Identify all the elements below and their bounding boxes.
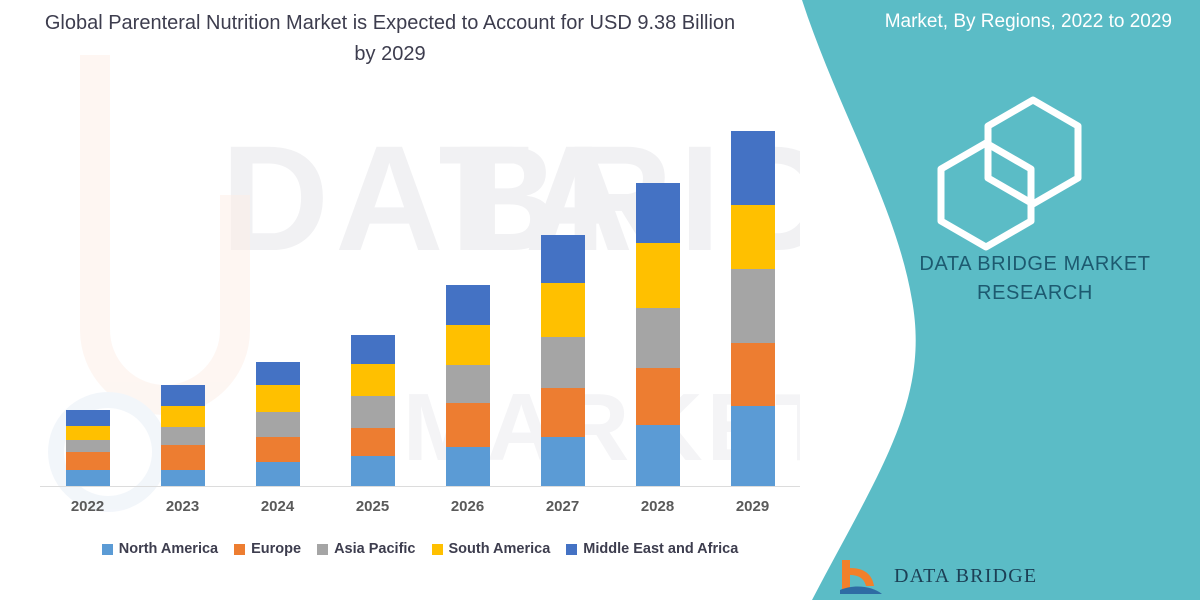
bar-segment (66, 440, 110, 452)
bar-segment (446, 285, 490, 325)
bar-column (420, 120, 515, 486)
bar-segment (66, 410, 110, 426)
stacked-bar-2025[interactable] (351, 335, 395, 486)
x-axis-label: 2028 (610, 498, 705, 515)
bar-segment (351, 396, 395, 428)
bar-segment (66, 452, 110, 470)
legend-item[interactable]: South America (432, 541, 551, 557)
bar-segment (66, 470, 110, 486)
bar-column (135, 120, 230, 486)
bar-segment (351, 428, 395, 456)
bar-segment (541, 437, 585, 486)
bar-segment (446, 325, 490, 365)
x-axis-label: 2027 (515, 498, 610, 515)
stacked-bar-2023[interactable] (161, 385, 205, 486)
x-axis-label: 2024 (230, 498, 325, 515)
bar-segment (541, 337, 585, 388)
stacked-bar-2026[interactable] (446, 285, 490, 486)
infographic-canvas: DATA BRIDGE MARKET 2022 2029 Market, By … (0, 0, 1200, 600)
bar-segment (636, 183, 680, 243)
legend-item[interactable]: Europe (234, 541, 301, 557)
legend-label: Europe (251, 541, 301, 557)
bridge-logo-mark (838, 556, 884, 596)
chart-legend: North AmericaEuropeAsia PacificSouth Ame… (40, 541, 800, 557)
bar-column (610, 120, 705, 486)
legend-item[interactable]: Asia Pacific (317, 541, 415, 557)
stacked-bar-2029[interactable] (731, 131, 775, 486)
bar-segment (161, 427, 205, 445)
legend-swatch-icon (566, 544, 577, 555)
legend-swatch-icon (234, 544, 245, 555)
stacked-bar-2022[interactable] (66, 410, 110, 486)
bar-segment (731, 205, 775, 269)
bar-segment (636, 243, 680, 308)
bar-segment (636, 425, 680, 486)
stacked-bar-2028[interactable] (636, 183, 680, 486)
bar-segment (446, 365, 490, 403)
bar-segment (256, 412, 300, 437)
x-axis-labels: 20222023202420252026202720282029 (40, 498, 800, 515)
legend-label: Asia Pacific (334, 541, 415, 557)
legend-item[interactable]: North America (102, 541, 218, 557)
bar-segment (731, 406, 775, 486)
legend-swatch-icon (102, 544, 113, 555)
bar-column (515, 120, 610, 486)
bar-segment (636, 308, 680, 368)
legend-swatch-icon (317, 544, 328, 555)
bar-segment (256, 462, 300, 486)
bar-segment (161, 445, 205, 470)
bar-segment (256, 385, 300, 412)
legend-label: Middle East and Africa (583, 541, 738, 557)
x-axis-line (40, 486, 800, 487)
bar-segment (541, 283, 585, 337)
bar-segment (541, 235, 585, 283)
bar-segment (636, 368, 680, 425)
panel-heading: Market, By Regions, 2022 to 2029 (872, 8, 1172, 36)
bar-segment (446, 403, 490, 447)
bar-segment (731, 343, 775, 406)
logo-text: DATA BRIDGE (894, 565, 1037, 588)
data-bridge-logo: DATA BRIDGE (838, 556, 1037, 596)
bar-segment (351, 335, 395, 364)
bar-segment (66, 426, 110, 440)
bar-segment (256, 437, 300, 462)
bar-segment (351, 456, 395, 486)
legend-label: South America (449, 541, 551, 557)
bar-column (40, 120, 135, 486)
bar-column (705, 120, 800, 486)
legend-label: North America (119, 541, 218, 557)
bar-segment (256, 362, 300, 385)
bar-segment (161, 385, 205, 406)
stacked-bar-2027[interactable] (541, 235, 585, 486)
bar-segment (446, 447, 490, 486)
bar-segment (351, 364, 395, 396)
x-axis-label: 2025 (325, 498, 420, 515)
bar-segment (161, 406, 205, 427)
bar-group (40, 120, 800, 486)
brand-name: DATA BRIDGE MARKET RESEARCH (880, 250, 1190, 308)
x-axis-label: 2029 (705, 498, 800, 515)
bar-column (230, 120, 325, 486)
x-axis-label: 2023 (135, 498, 230, 515)
bar-segment (541, 388, 585, 437)
bar-segment (161, 470, 205, 486)
bar-segment (731, 269, 775, 343)
legend-swatch-icon (432, 544, 443, 555)
legend-item[interactable]: Middle East and Africa (566, 541, 738, 557)
stacked-bar-2024[interactable] (256, 362, 300, 486)
chart-plot-area: 20222023202420252026202720282029 (0, 0, 800, 600)
x-axis-label: 2022 (40, 498, 135, 515)
bar-column (325, 120, 420, 486)
x-axis-label: 2026 (420, 498, 515, 515)
bar-segment (731, 131, 775, 205)
